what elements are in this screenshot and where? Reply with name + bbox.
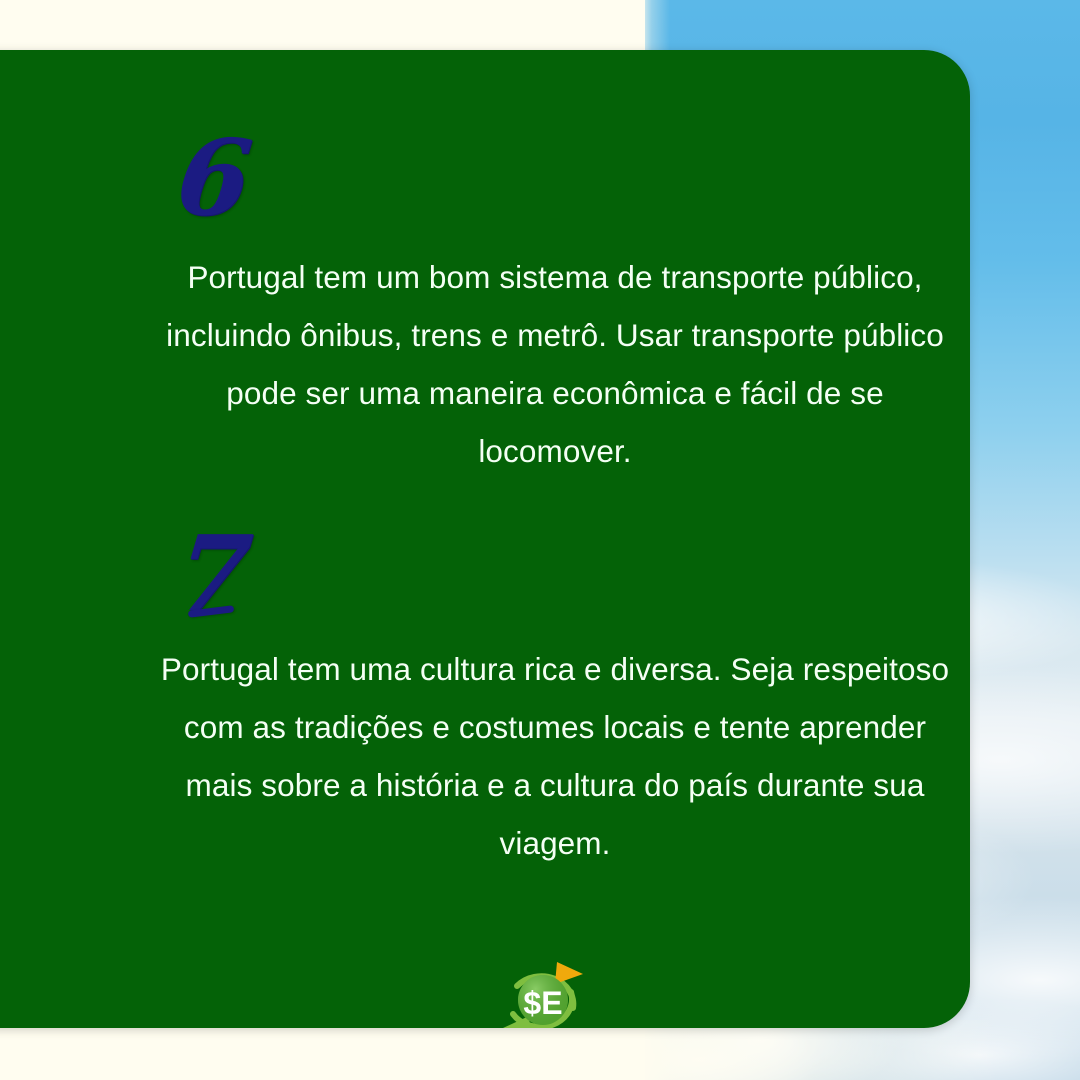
- card-content-area: 6 Portugal tem um bom sistema de transpo…: [0, 50, 970, 1028]
- tip-number-6: 6: [173, 126, 254, 230]
- currency-exchange-logo: $E: [497, 958, 589, 1028]
- green-content-card: 6 Portugal tem um bom sistema de transpo…: [0, 50, 970, 1028]
- paper-panel-bottom-edge: [0, 1020, 1000, 1080]
- tip-text-7: Portugal tem uma cultura rica e diversa.…: [160, 640, 950, 872]
- logo-text: $E: [523, 985, 562, 1021]
- currency-exchange-icon: $E: [497, 958, 589, 1028]
- tip-text-6: Portugal tem um bom sistema de transport…: [160, 248, 950, 480]
- poster-canvas: 6 Portugal tem um bom sistema de transpo…: [0, 0, 1080, 1080]
